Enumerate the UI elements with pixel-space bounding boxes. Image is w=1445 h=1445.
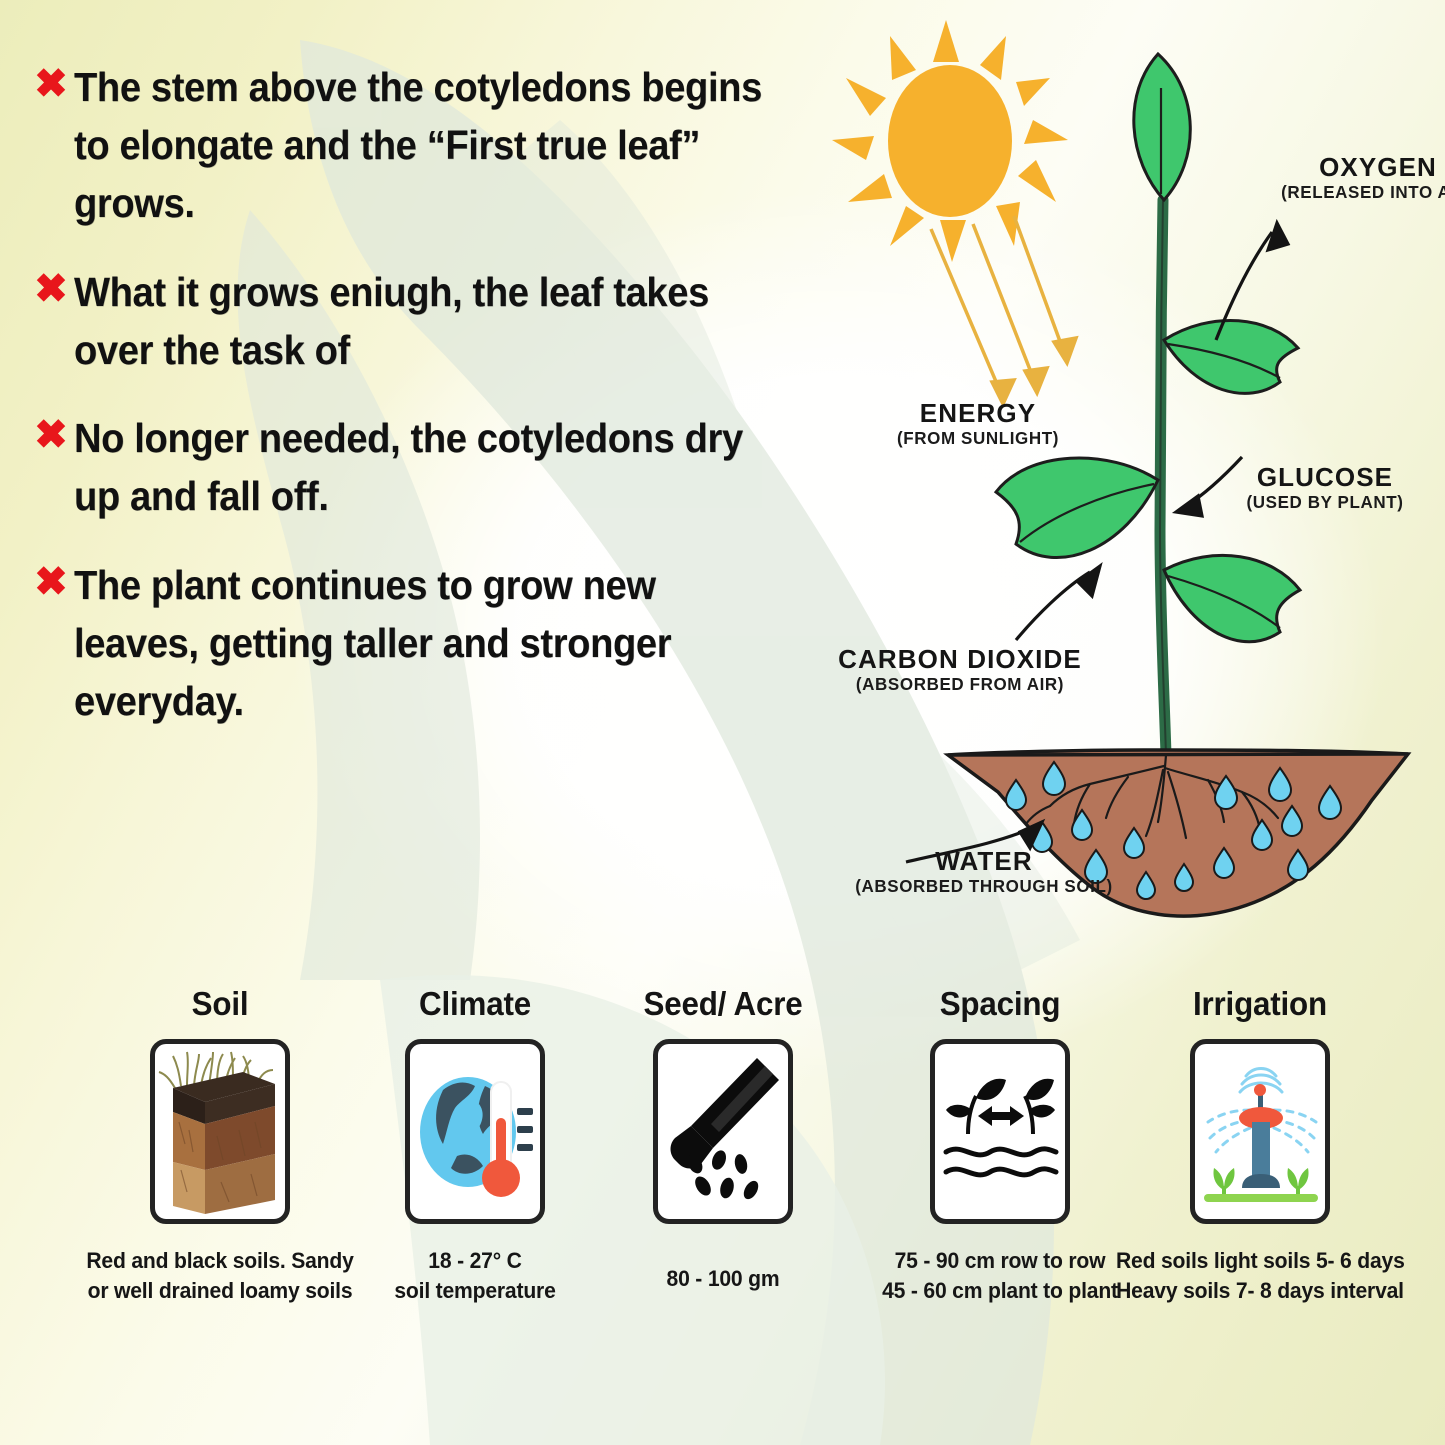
label-carbon-dioxide-sub: (ABSORBED FROM AIR)	[820, 675, 1100, 696]
strip-title-climate: Climate	[337, 985, 613, 1023]
photosynthesis-diagram: OXYGEN (RELEASED INTO AIR) ENERGY (FROM …	[828, 10, 1445, 940]
bullet-text: The stem above the cotyledons begins to …	[74, 58, 781, 233]
caption-line: or well drained loamy soils	[81, 1276, 359, 1306]
plant-spacing-iconbox	[930, 1039, 1070, 1224]
label-oxygen-sub: (RELEASED INTO AIR)	[1268, 183, 1445, 204]
soil-profile-iconbox	[150, 1039, 290, 1224]
label-carbon-dioxide-main: CARBON DIOXIDE	[820, 644, 1100, 675]
label-energy: ENERGY (FROM SUNLIGHT)	[868, 398, 1088, 449]
list-item: ✖ The plant continues to grow new leaves…	[34, 556, 834, 731]
sun-icon	[832, 20, 1068, 262]
star-bullet-icon: ✖	[34, 570, 68, 594]
label-oxygen-main: OXYGEN	[1268, 152, 1445, 183]
soil-profile-icon	[155, 1044, 285, 1219]
label-energy-sub: (FROM SUNLIGHT)	[868, 429, 1088, 450]
caption-line: 45 - 60 cm plant to plant	[861, 1276, 1139, 1306]
bullet-text: No longer needed, the cotyledons dry up …	[74, 409, 781, 525]
strip-cell-climate: Climate	[330, 985, 620, 1305]
caption-line: soil temperature	[336, 1276, 614, 1306]
plant-spacing-icon	[938, 1052, 1063, 1212]
strip-title-seed-acre: Seed/ Acre	[585, 985, 861, 1023]
seed-bag-iconbox	[653, 1039, 793, 1224]
star-bullet-icon: ✖	[34, 423, 68, 447]
strip-cell-seed-acre: Seed/ Acre 80	[578, 985, 868, 1294]
caption-line: 18 - 27° C	[336, 1246, 614, 1276]
label-water-sub: (ABSORBED THROUGH SOIL)	[844, 877, 1124, 898]
list-item: ✖ The stem above the cotyledons begins t…	[34, 58, 834, 233]
label-glucose: GLUCOSE (USED BY PLANT)	[1210, 462, 1440, 513]
strip-title-irrigation: Irrigation	[1118, 985, 1403, 1023]
caption-line: 80 - 100 gm	[584, 1264, 862, 1294]
label-oxygen: OXYGEN (RELEASED INTO AIR)	[1268, 152, 1445, 203]
caption-line: 75 - 90 cm row to row	[861, 1246, 1139, 1276]
label-glucose-sub: (USED BY PLANT)	[1210, 493, 1440, 514]
strip-cell-spacing: Spacing	[855, 985, 1145, 1305]
strip-title-spacing: Spacing	[862, 985, 1138, 1023]
bullet-text: What it grows eniugh, the leaf takes ove…	[74, 263, 781, 379]
strip-caption-climate: 18 - 27° C soil temperature	[336, 1246, 614, 1305]
strip-caption-irrigation: Red soils light soils 5- 6 days Heavy so…	[1116, 1246, 1404, 1305]
caption-line: Red and black soils. Sandy	[81, 1246, 359, 1276]
bullet-text: The plant continues to grow new leaves, …	[74, 556, 781, 731]
caption-line: Red soils light soils 5- 6 days	[1116, 1246, 1404, 1276]
carbon-dioxide-arrow	[1016, 566, 1100, 640]
globe-thermometer-iconbox	[405, 1039, 545, 1224]
strip-caption-spacing: 75 - 90 cm row to row 45 - 60 cm plant t…	[861, 1246, 1139, 1305]
strip-caption-seed-acre: 80 - 100 gm	[584, 1264, 862, 1294]
caption-line: Heavy soils 7- 8 days interval	[1116, 1276, 1404, 1306]
label-water-main: WATER	[844, 846, 1124, 877]
strip-caption-soil: Red and black soils. Sandy or well drain…	[81, 1246, 359, 1305]
sprinkler-icon	[1198, 1052, 1323, 1212]
label-energy-main: ENERGY	[868, 398, 1088, 429]
bullet-list: ✖ The stem above the cotyledons begins t…	[34, 58, 834, 760]
crop-requirements-strip: Soil	[0, 985, 1445, 1425]
strip-title-soil: Soil	[82, 985, 358, 1023]
sprinkler-iconbox	[1190, 1039, 1330, 1224]
list-item: ✖ No longer needed, the cotyledons dry u…	[34, 409, 834, 525]
list-item: ✖ What it grows eniugh, the leaf takes o…	[34, 263, 834, 379]
star-bullet-icon: ✖	[34, 72, 68, 96]
seed-bag-icon	[661, 1052, 786, 1212]
label-carbon-dioxide: CARBON DIOXIDE (ABSORBED FROM AIR)	[820, 644, 1100, 695]
globe-thermometer-icon	[413, 1052, 538, 1212]
strip-cell-soil: Soil	[75, 985, 365, 1305]
star-bullet-icon: ✖	[34, 277, 68, 301]
strip-cell-irrigation: Irrigation	[1110, 985, 1410, 1305]
poster-root: ✖ The stem above the cotyledons begins t…	[0, 0, 1445, 1445]
label-water: WATER (ABSORBED THROUGH SOIL)	[844, 846, 1124, 897]
label-glucose-main: GLUCOSE	[1210, 462, 1440, 493]
